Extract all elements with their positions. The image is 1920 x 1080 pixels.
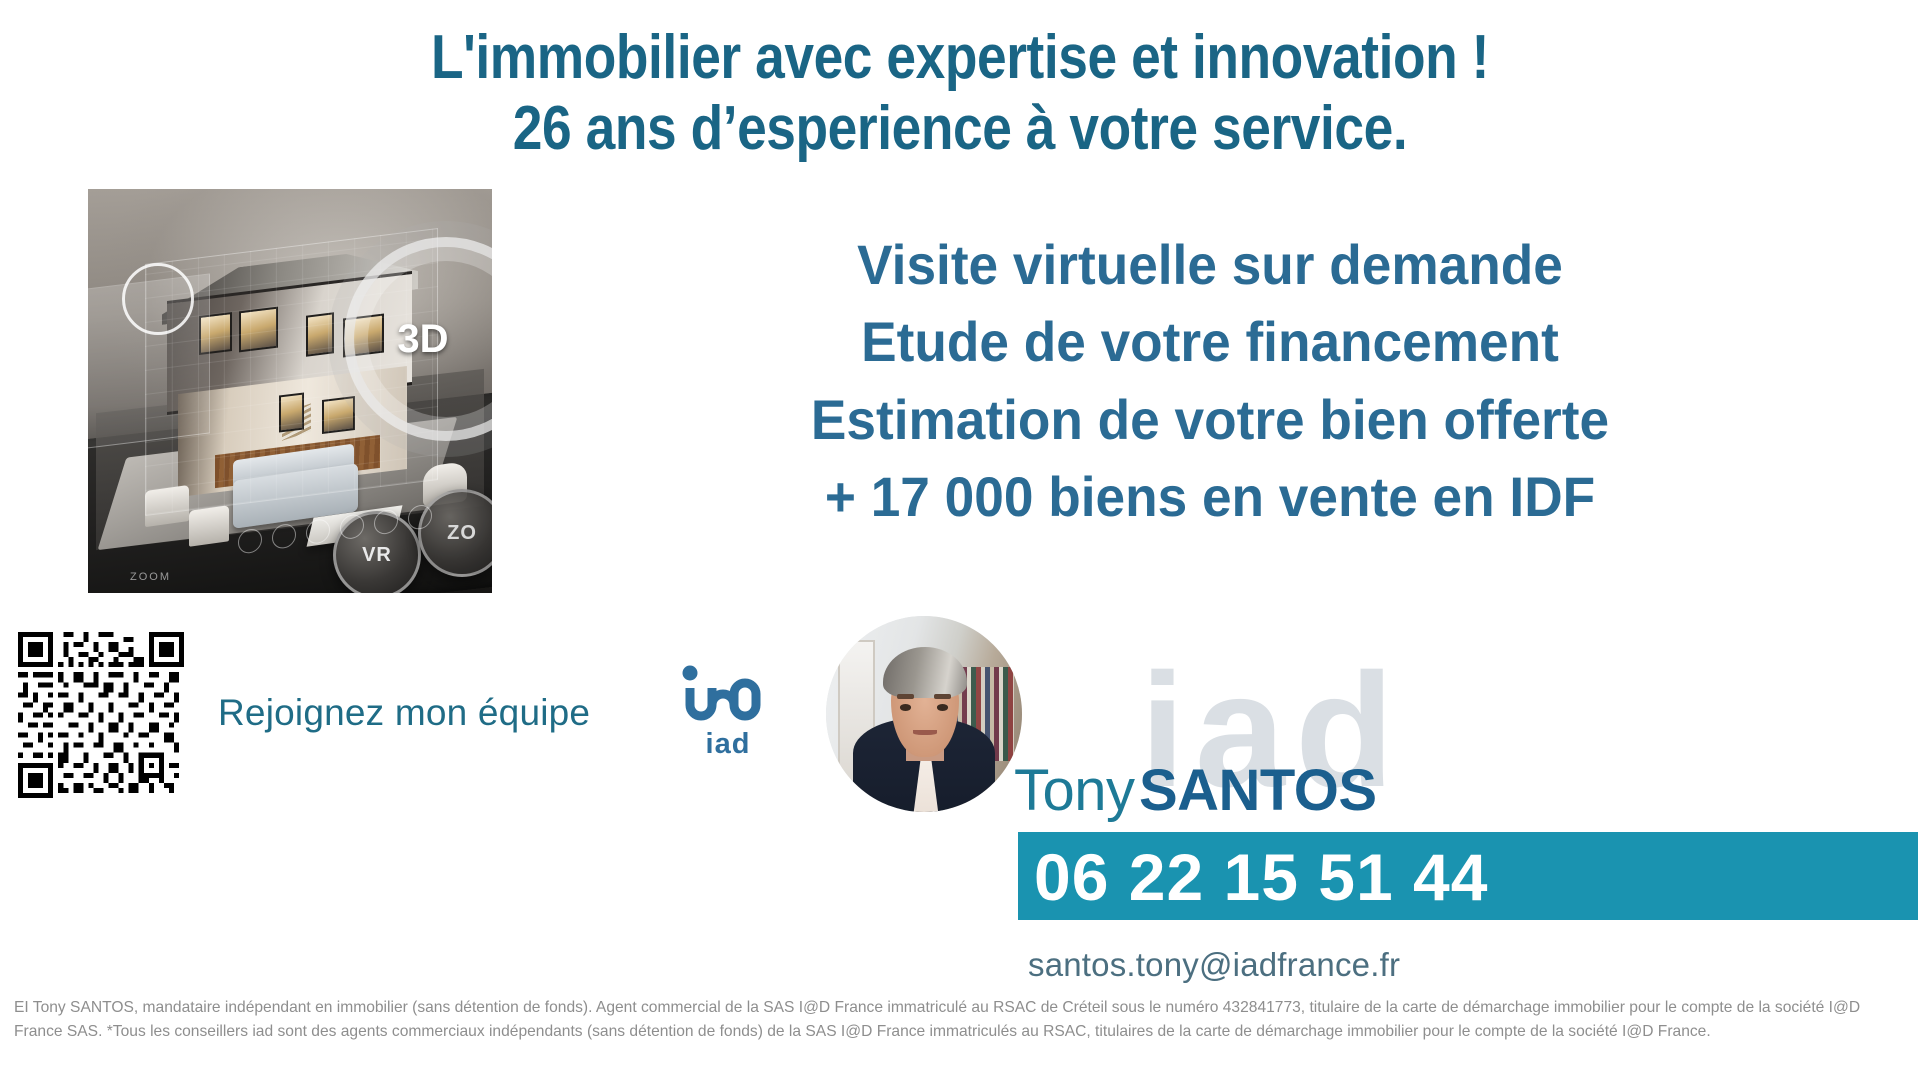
qr-code[interactable]	[18, 632, 184, 798]
hud-icon	[238, 527, 262, 554]
portrait-brow	[934, 694, 952, 699]
hud-icon	[272, 523, 296, 550]
armchair	[145, 485, 189, 528]
iad-mark-icon	[676, 664, 780, 726]
benefits-list: Visite virtuelle sur demande Etude de vo…	[555, 226, 1866, 535]
benefit-item: Estimation de votre bien offerte	[555, 381, 1866, 458]
benefit-item: Etude de votre financement	[555, 303, 1866, 380]
iad-logo: iad	[668, 664, 788, 761]
hero-3d-house-image: 3D VR ZO ZOOM	[88, 189, 492, 593]
page-title: L'immobilier avec expertise et innovatio…	[134, 26, 1785, 160]
hud-icon	[340, 513, 364, 540]
hud-icon	[306, 518, 330, 545]
headline-line-1: L'immobilier avec expertise et innovatio…	[134, 26, 1785, 89]
zoom-label: ZOOM	[130, 571, 171, 583]
window-icon	[322, 396, 355, 435]
benefit-item: + 17 000 biens en vente en IDF	[555, 458, 1866, 535]
agent-email[interactable]: santos.tony@iadfrance.fr	[1028, 946, 1400, 984]
iad-wordmark: iad	[668, 728, 788, 761]
hud-icon	[408, 503, 432, 530]
window-icon	[239, 307, 278, 353]
benefit-item: Visite virtuelle sur demande	[555, 226, 1866, 303]
puck-vr-label: VR	[362, 544, 392, 567]
window-icon	[306, 312, 334, 357]
agent-name: Tony SANTOS	[1014, 762, 1377, 820]
puck-zoom-label: ZO	[447, 522, 477, 545]
window-icon	[279, 392, 304, 432]
avatar	[826, 616, 1022, 812]
legal-disclaimer: EI Tony SANTOS, mandataire indépendant e…	[14, 996, 1910, 1043]
marketing-flyer: L'immobilier avec expertise et innovatio…	[0, 0, 1920, 1080]
armchair	[189, 505, 229, 547]
agent-phone[interactable]: 06 22 15 51 44	[1034, 838, 1488, 917]
hud-ring-icon	[122, 263, 194, 335]
portrait-brow	[897, 694, 915, 699]
join-team-text: Rejoignez mon équipe	[218, 692, 590, 734]
portrait-eye	[900, 704, 912, 711]
hud-icon	[374, 508, 398, 535]
agent-last-name: SANTOS	[1139, 758, 1377, 823]
portrait-eye	[937, 704, 949, 711]
agent-first-name: Tony	[1014, 758, 1135, 823]
portrait-mouth	[913, 730, 937, 735]
headline-line-2: 26 ans d’esperience à votre service.	[134, 97, 1785, 160]
dial-3d-label: 3D	[397, 317, 448, 362]
